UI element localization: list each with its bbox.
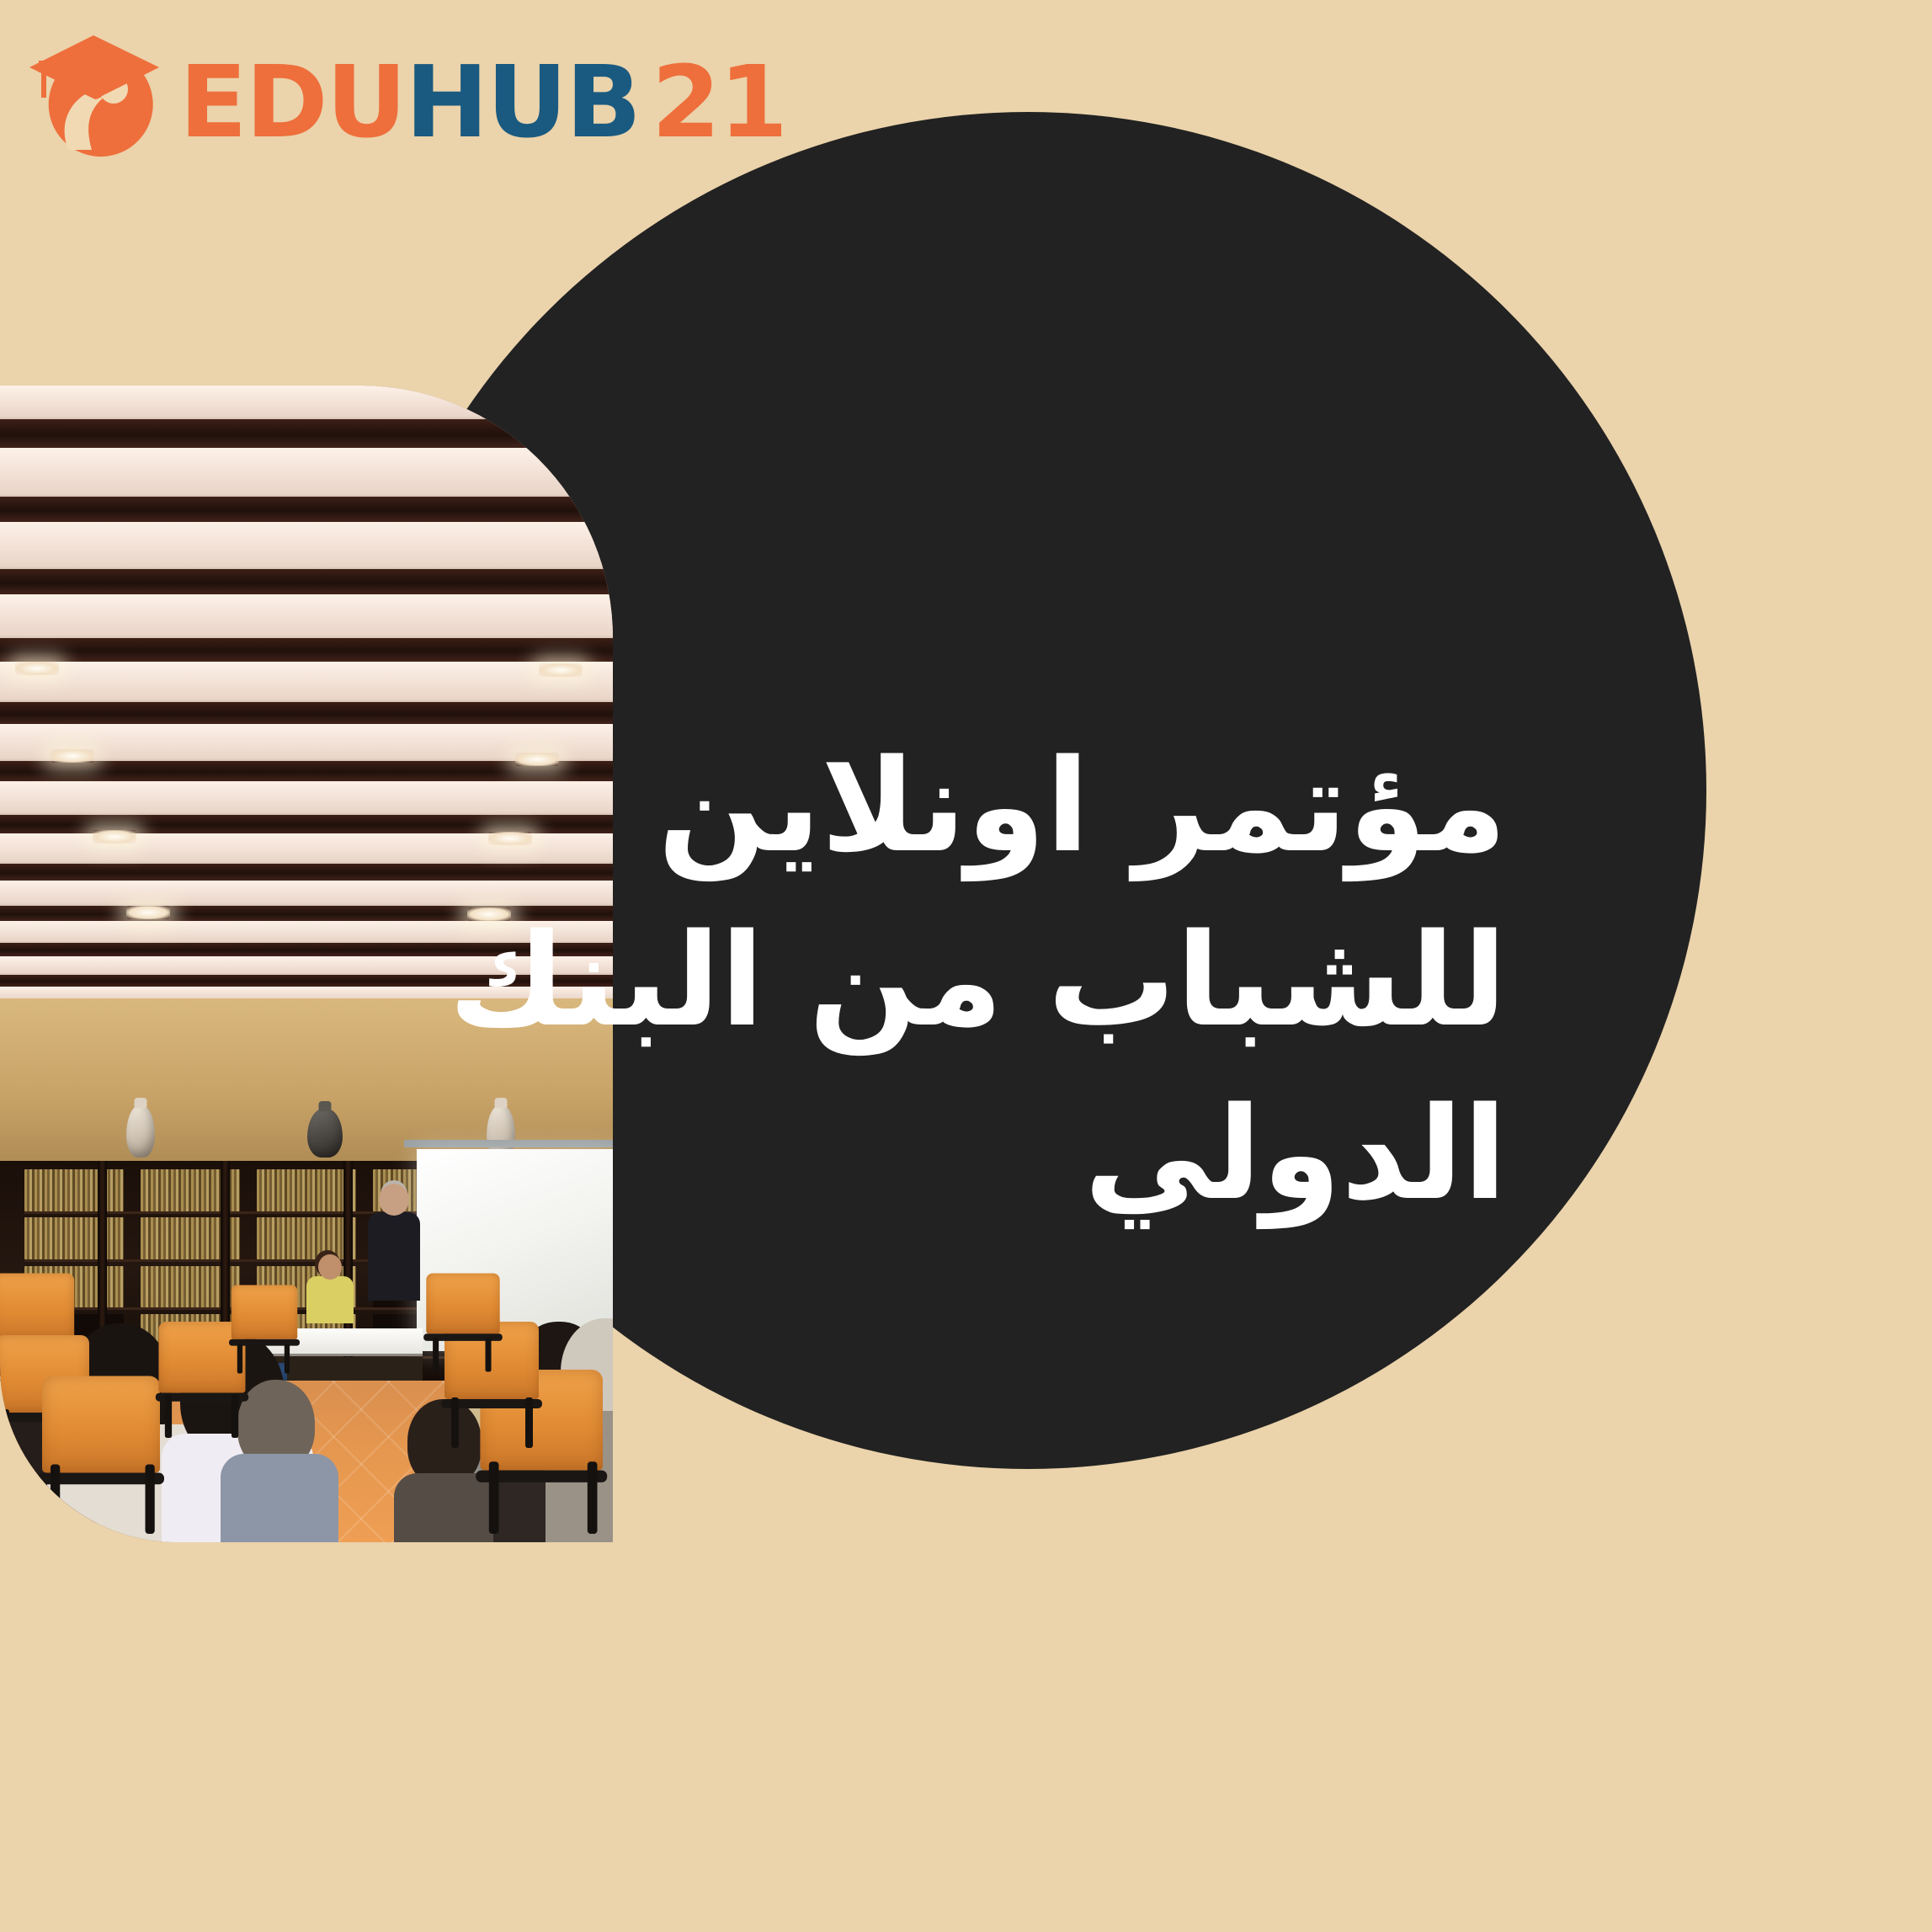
page-title: مؤتمر اونلاين للشباب من البنك الدولي xyxy=(598,720,1507,1242)
ceiling-light xyxy=(15,662,59,675)
auditorium-chair xyxy=(226,1285,302,1374)
brand-wordmark: EDUHUB21 xyxy=(179,52,786,152)
brand-word-edu: EDU xyxy=(179,44,405,160)
auditorium-chair xyxy=(34,1376,168,1535)
auditorium-chair xyxy=(421,1274,505,1372)
headline-line-1: مؤتمر اونلاين xyxy=(598,720,1507,894)
social-card-canvas: EDUHUB21 مؤتمر اونلاين للشباب من البنك ا… xyxy=(0,0,1932,1932)
vase-ornament xyxy=(307,1109,343,1158)
vase-ornament xyxy=(126,1105,155,1158)
ceiling-light xyxy=(539,663,583,677)
panelist-person xyxy=(306,1276,354,1323)
ceiling-light xyxy=(488,832,532,845)
brand-word-hub: HUB xyxy=(405,44,640,160)
brand-word-21: 21 xyxy=(652,44,786,160)
speaker-person xyxy=(368,1212,420,1301)
headline-line-2: للشباب من البنك xyxy=(598,894,1507,1068)
ceiling-light xyxy=(515,753,559,766)
ceiling-light xyxy=(51,749,94,763)
graduation-cap-person-icon xyxy=(21,24,171,165)
ceiling-light xyxy=(126,906,170,919)
projector-screen-rail xyxy=(404,1140,613,1147)
headline-line-3: الدولي xyxy=(598,1067,1507,1242)
brand-logo[interactable]: EDUHUB21 xyxy=(21,19,786,170)
ceiling-light xyxy=(93,830,136,844)
